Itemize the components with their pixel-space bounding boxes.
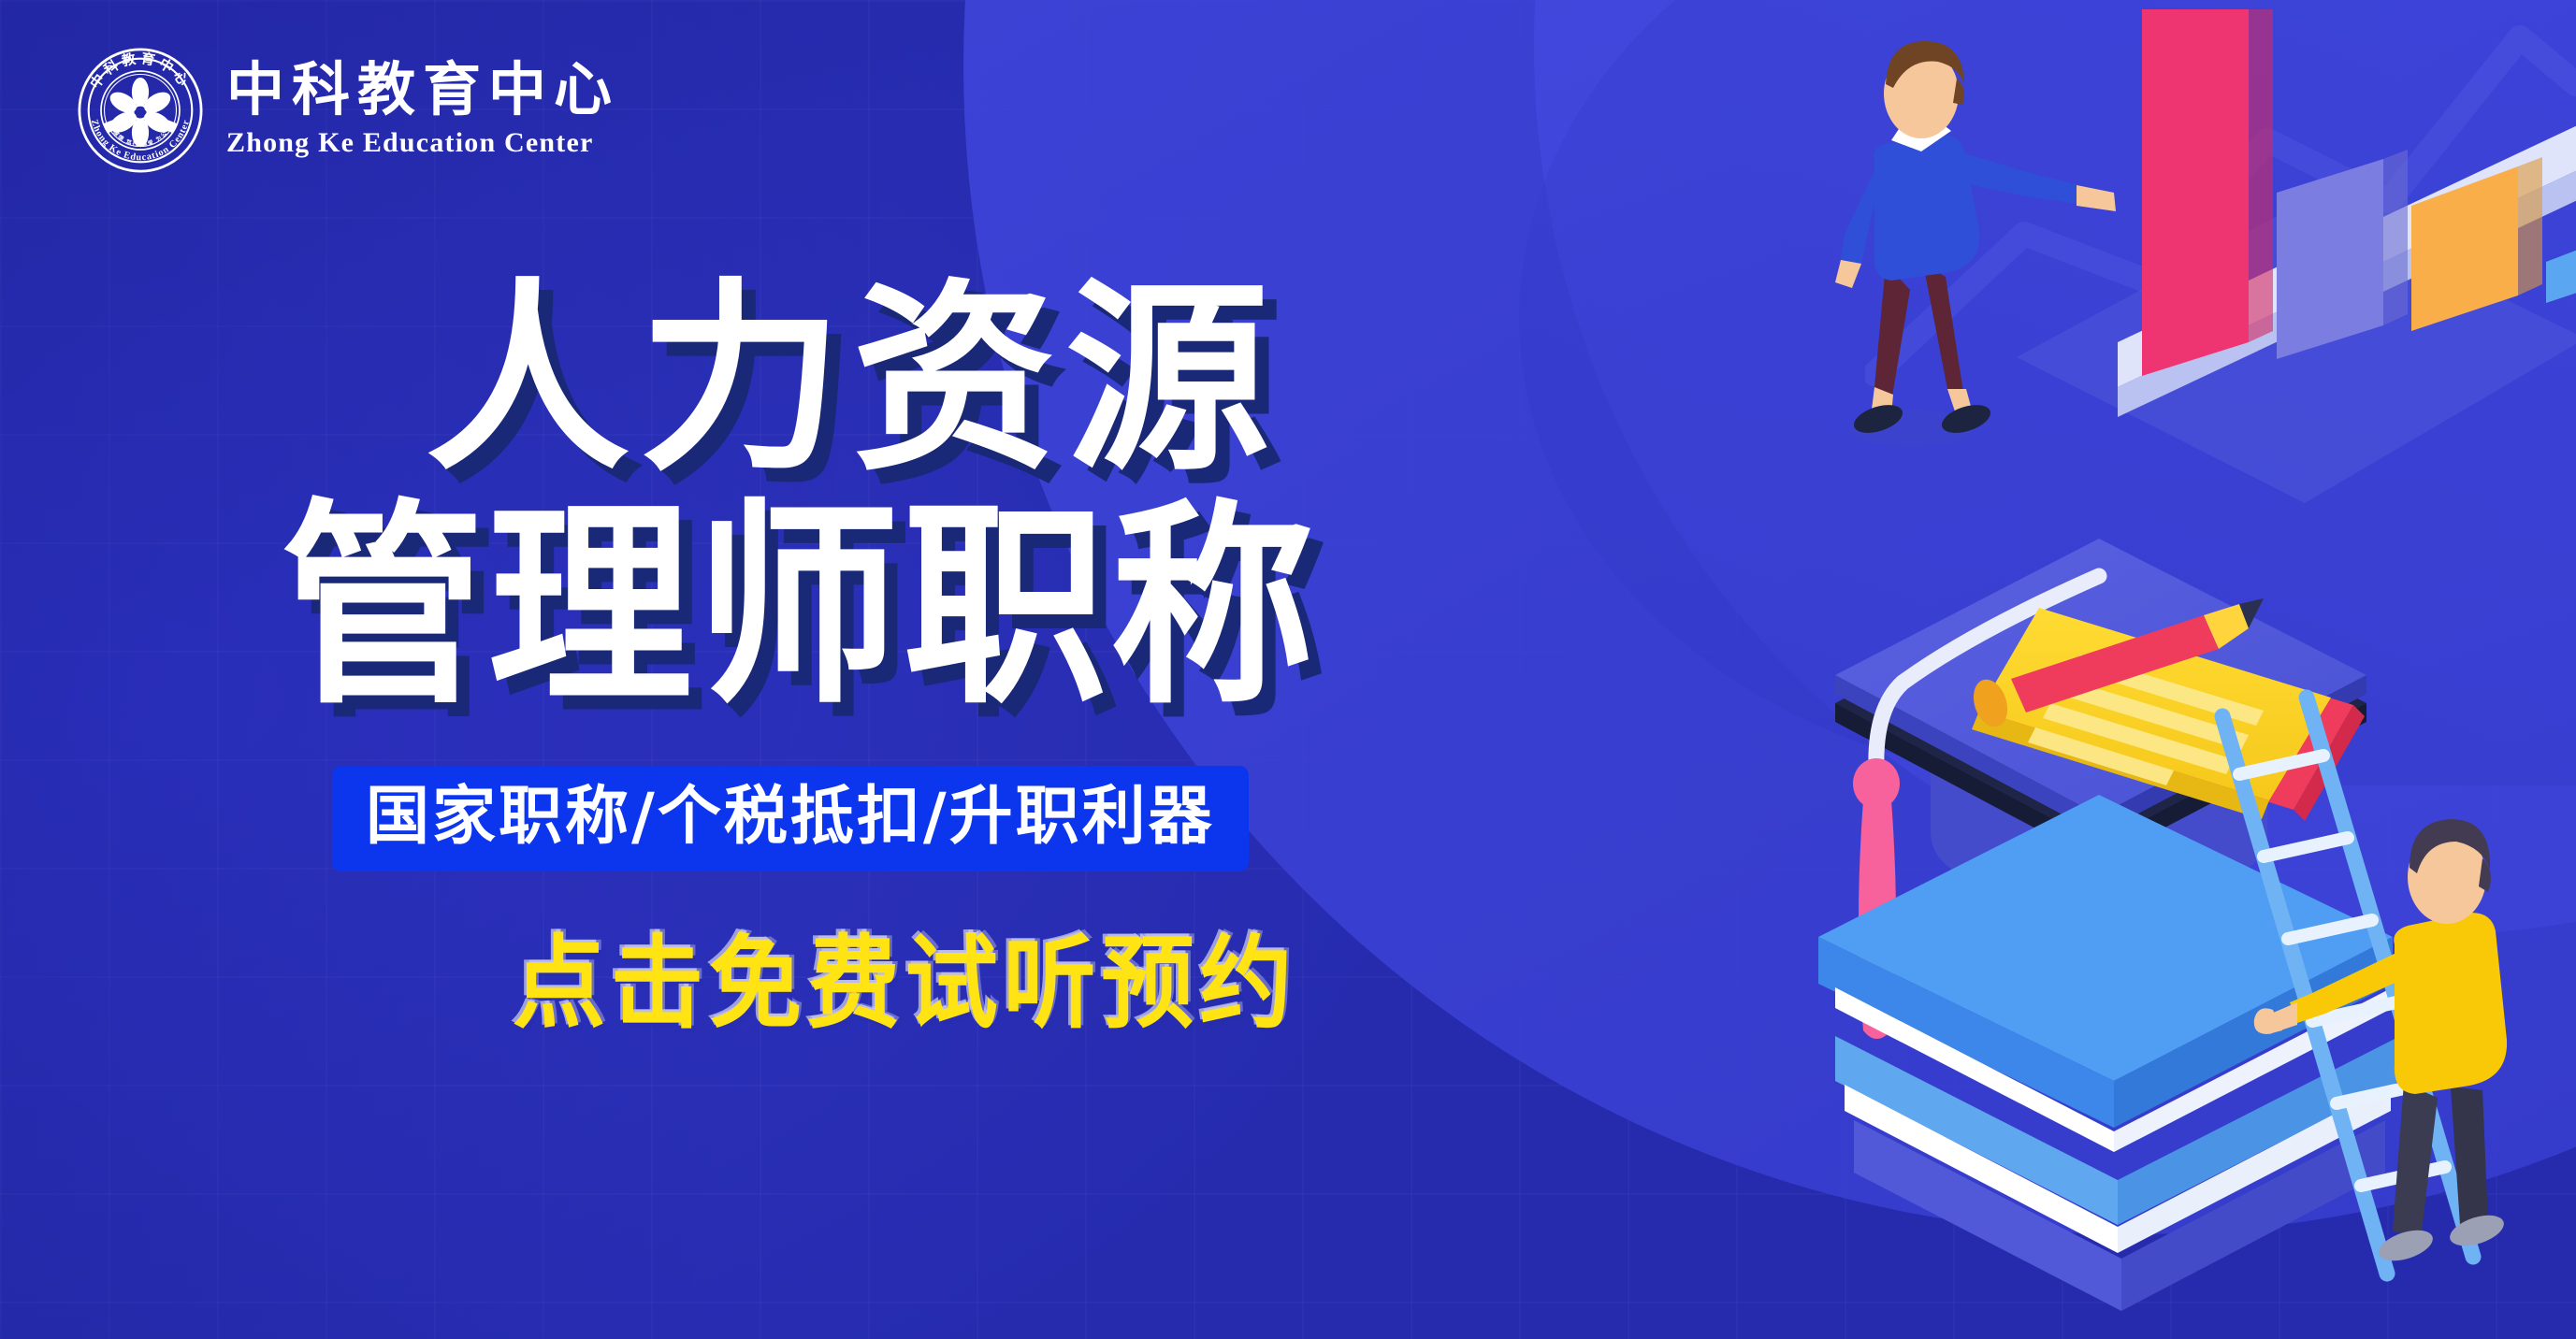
brand-wordmark: 中科教育中心 Zhong Ke Education Center (226, 61, 619, 160)
stacked-books (1818, 795, 2400, 1311)
cta-text[interactable]: 点击免费试听预约 (513, 931, 1504, 1037)
bar-orange (2411, 157, 2542, 331)
subtitle-bar: 国家职称/个税抵扣/升职利器 (332, 766, 1249, 871)
isometric-education-illustration (1594, 9, 2576, 1339)
brand-name-cn: 中科教育中心 (226, 61, 619, 121)
brand-name-en: Zhong Ke Education Center (226, 126, 619, 160)
headline-line-2: 管理师职称 (281, 501, 1512, 713)
bar-pink (2142, 9, 2273, 376)
bar-blue (2546, 247, 2576, 303)
brand-logo[interactable]: 中科教育中心 Zhong Ke Education Center 厚德 笃行 博… (75, 45, 619, 176)
standing-person (1835, 41, 2116, 447)
copy-block: 人力资源 管理师职称 国家职称/个税抵扣/升职利器 点击免费试听预约 (0, 281, 1590, 1038)
zhongke-circular-emblem-icon: 中科教育中心 Zhong Ke Education Center 厚德 笃行 博… (75, 45, 206, 176)
promo-banner: 中科教育中心 Zhong Ke Education Center 厚德 笃行 博… (0, 0, 2576, 1339)
headline-line-1: 人力资源 (426, 281, 1590, 481)
subtitle-text: 国家职称/个税抵扣/升职利器 (366, 783, 1215, 851)
